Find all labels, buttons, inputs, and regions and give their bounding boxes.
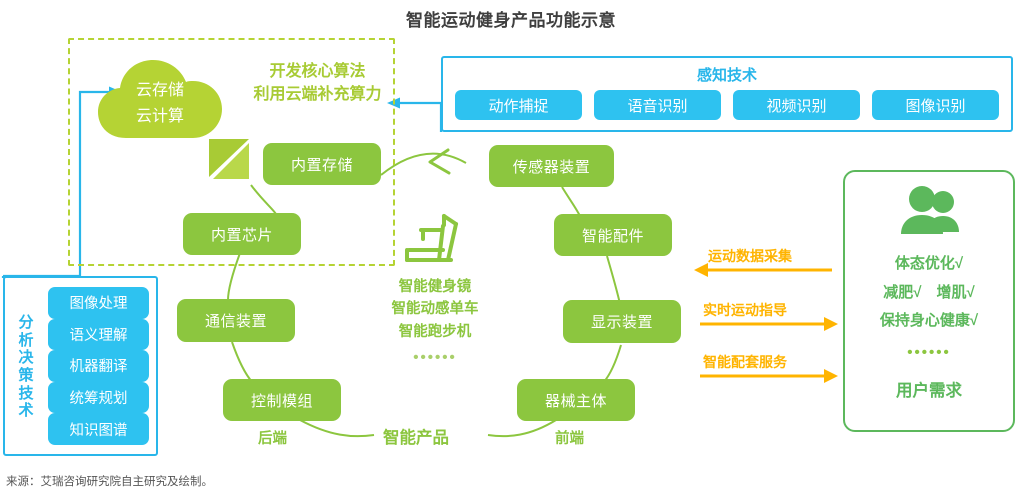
flow-arrow-layer (0, 0, 1022, 500)
flow-arrow-head-left-1 (694, 263, 708, 277)
flow-arrow-head-right-2 (824, 317, 838, 331)
flow-arrow-head-right-3 (824, 369, 838, 383)
diagram-canvas: 智能运动健身产品功能示意 (0, 0, 1022, 500)
